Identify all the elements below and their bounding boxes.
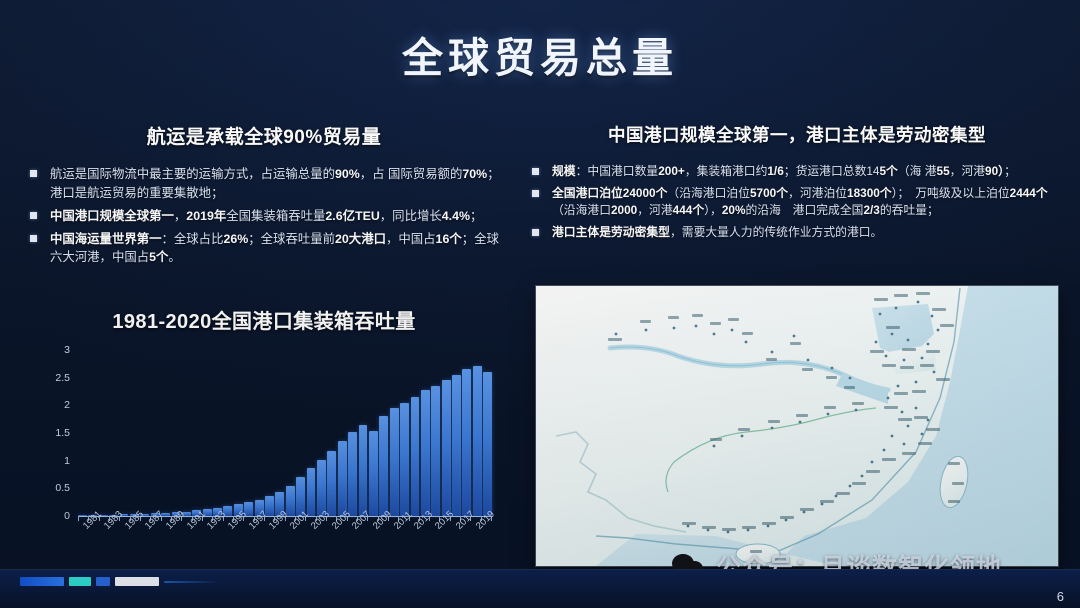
list-item: 港口主体是劳动密集型，需要大量人力的传统作业方式的港口。 xyxy=(524,224,1070,242)
chart-bar xyxy=(421,390,430,516)
bullet-square-icon xyxy=(532,190,539,197)
list-item: 规模：中国港口数量200+，集装箱港口约1/6；货运港口总数145个（海 港55… xyxy=(524,163,1070,181)
bullet-square-icon xyxy=(30,212,37,219)
chart-bar xyxy=(462,369,471,516)
chart-y-tick: 2 xyxy=(64,399,70,411)
chart-bar xyxy=(473,366,482,517)
chart-bar xyxy=(390,408,399,516)
footer-decoration xyxy=(20,577,220,586)
chart-bar xyxy=(348,432,357,516)
left-column: 航运是承载全球90%贸易量 航运是国际物流中最主要的运输方式，占运输总量的90%… xyxy=(18,122,510,271)
list-item: 中国港口规模全球第一，2019年全国集装箱吞吐量2.6亿TEU，同比增长4.4%… xyxy=(18,207,510,226)
bullet-square-icon xyxy=(532,229,539,236)
chart-bar xyxy=(452,375,461,516)
chart-bar xyxy=(411,397,420,516)
chart-y-tick: 0 xyxy=(64,510,70,522)
chart-bar xyxy=(327,451,336,516)
footer-bar xyxy=(0,569,1080,608)
chart-bars xyxy=(78,350,492,516)
right-column-heading: 中国港口规模全球第一，港口主体是劳动密集型 xyxy=(524,122,1070,147)
chart-y-tick: 1 xyxy=(64,455,70,467)
deco-segment-small-blue xyxy=(96,577,110,586)
list-item: 航运是国际物流中最主要的运输方式，占运输总量的90%，占 国际贸易额的70%；港… xyxy=(18,165,510,203)
chart-bar xyxy=(369,431,378,516)
list-item-text: 航运是国际物流中最主要的运输方式，占运输总量的90%，占 国际贸易额的70%；港… xyxy=(50,167,500,200)
list-item-text: 规模：中国港口数量200+，集装箱港口约1/6；货运港口总数145个（海 港55… xyxy=(552,164,1016,178)
chart-title: 1981-2020全国港口集装箱吞吐量 xyxy=(18,305,510,334)
container-throughput-bar-chart: 00.511.522.53 19811983198519871989199119… xyxy=(40,350,492,550)
china-ports-map xyxy=(536,286,1058,566)
chart-x-tick-labels: 1981198319851987198919911993199519971999… xyxy=(78,524,492,568)
list-item-text: 中国海运量世界第一：全球占比26%；全球吞吐量前20大港口，中国占16个；全球六… xyxy=(50,232,499,265)
deco-segment-white xyxy=(115,577,159,586)
right-column: 中国港口规模全球第一，港口主体是劳动密集型 规模：中国港口数量200+，集装箱港… xyxy=(524,122,1070,246)
bullet-square-icon xyxy=(30,170,37,177)
bullet-square-icon xyxy=(532,168,539,175)
chart-y-tick: 0.5 xyxy=(55,482,70,494)
left-bullet-list: 航运是国际物流中最主要的运输方式，占运输总量的90%，占 国际贸易额的70%；港… xyxy=(18,165,510,267)
chart-bar xyxy=(359,425,368,516)
chart-y-tick: 1.5 xyxy=(55,427,70,439)
slide-canvas: 全球贸易总量 航运是承载全球90%贸易量 航运是国际物流中最主要的运输方式，占运… xyxy=(0,0,1080,608)
chart-bar xyxy=(286,486,295,516)
deco-segment-line xyxy=(164,581,220,583)
right-bullet-list: 规模：中国港口数量200+，集装箱港口约1/6；货运港口总数145个（海 港55… xyxy=(524,163,1070,242)
deco-segment-cyan xyxy=(69,577,91,586)
chart-bar xyxy=(307,468,316,516)
chart-bar xyxy=(483,372,492,516)
list-item-text: 全国港口泊位24000个（沿海港口泊位5700个，河港泊位18300个）； 万吨… xyxy=(552,186,1048,218)
list-item-text: 中国港口规模全球第一，2019年全国集装箱吞吐量2.6亿TEU，同比增长4.4%… xyxy=(50,209,482,223)
chart-plot-area xyxy=(78,350,492,516)
left-column-heading: 航运是承载全球90%贸易量 xyxy=(18,122,510,149)
bullet-square-icon xyxy=(30,235,37,242)
chart-bar xyxy=(317,460,326,516)
chart-y-axis: 00.511.522.53 xyxy=(40,350,70,516)
chart-y-tick: 2.5 xyxy=(55,372,70,384)
deco-segment-blue xyxy=(20,577,64,586)
chart-bar xyxy=(442,380,451,516)
chart-y-tick: 3 xyxy=(64,344,70,356)
list-item-text: 港口主体是劳动密集型，需要大量人力的传统作业方式的港口。 xyxy=(552,225,882,239)
page-title: 全球贸易总量 xyxy=(0,24,1080,84)
chart-bar xyxy=(338,441,347,516)
list-item: 全国港口泊位24000个（沿海港口泊位5700个，河港泊位18300个）； 万吨… xyxy=(524,185,1070,220)
page-number: 6 xyxy=(1057,589,1064,604)
chart-bar xyxy=(431,386,440,516)
chart-bar xyxy=(379,416,388,516)
list-item: 中国海运量世界第一：全球占比26%；全球吞吐量前20大港口，中国占16个；全球六… xyxy=(18,230,510,268)
chart-bar xyxy=(400,403,409,516)
